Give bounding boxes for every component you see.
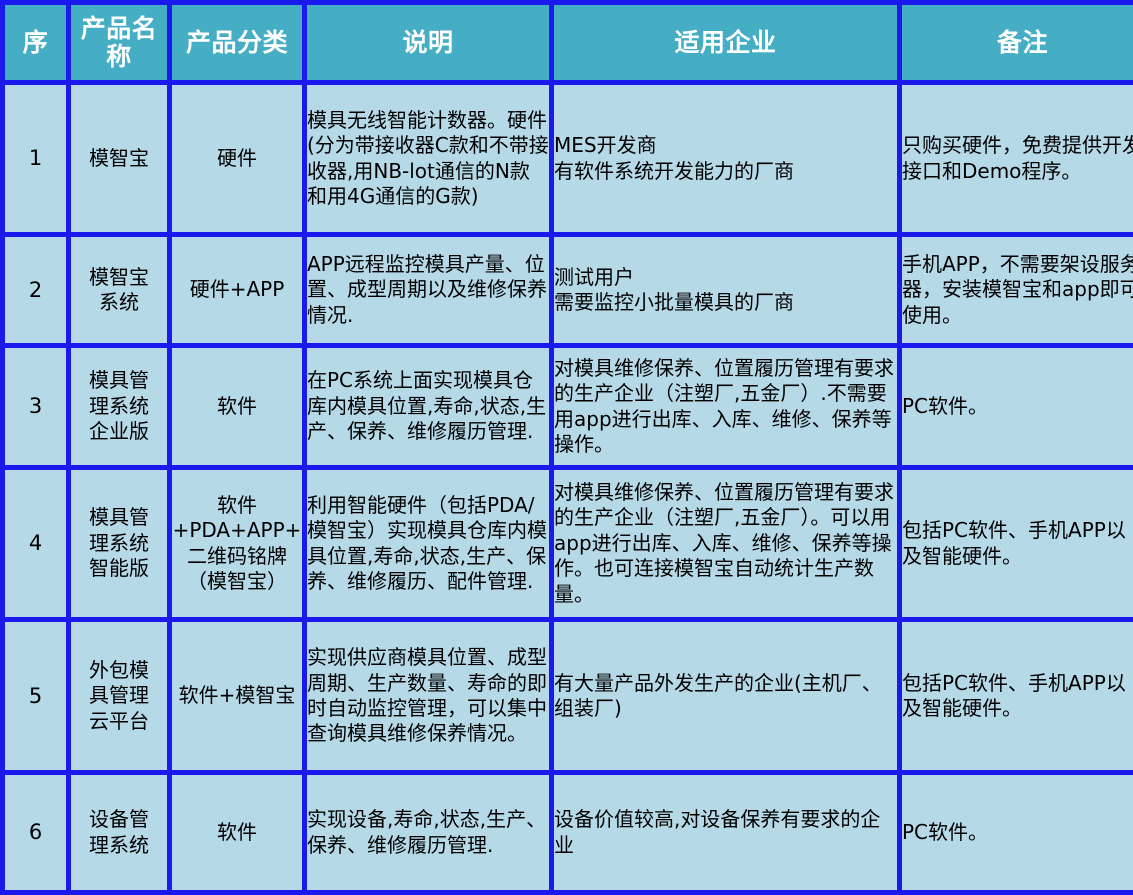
cell-target: 对模具维修保养、位置履历管理有要求的生产企业（注塑厂,五金厂）.不需要用app进… (554, 348, 897, 465)
cell-type: 硬件 (172, 85, 302, 232)
cell-type: 软件 (172, 775, 302, 890)
cell-target: 对模具维修保养、位置履历管理有要求的生产企业（注塑厂,五金厂）。可以用app进行… (554, 470, 897, 617)
cell-remark: 包括PC软件、手机APP以及智能硬件。 (902, 622, 1133, 770)
cell-remark: 手机APP，不需要架设服务器，安装模智宝和app即可使用。 (902, 237, 1133, 343)
cell-remark: 包括PC软件、手机APP以及智能硬件。 (902, 470, 1133, 617)
cell-name: 设备管 理系统 (71, 775, 167, 890)
cell-desc: APP远程监控模具产量、位置、成型周期以及维修保养情况. (307, 237, 549, 343)
cell-seq: 2 (5, 237, 66, 343)
column-header-type: 产品分类 (172, 5, 302, 80)
cell-name: 模具管 理系统 智能版 (71, 470, 167, 617)
cell-desc: 在PC系统上面实现模具仓库内模具位置,寿命,状态,生产、保养、维修履历管理. (307, 348, 549, 465)
product-comparison-table: 序 产品名 称 产品分类 说明 适用企业 备注 1 模智宝 硬件 模具无线智能计… (0, 0, 1133, 895)
table-row: 2 模智宝 系统 硬件+APP APP远程监控模具产量、位置、成型周期以及维修保… (5, 237, 1133, 343)
cell-target: 测试用户 需要监控小批量模具的厂商 (554, 237, 897, 343)
cell-name: 模智宝 系统 (71, 237, 167, 343)
table-header: 序 产品名 称 产品分类 说明 适用企业 备注 (5, 5, 1133, 80)
cell-desc: 实现设备,寿命,状态,生产、保养、维修履历管理. (307, 775, 549, 890)
cell-seq: 6 (5, 775, 66, 890)
cell-target: MES开发商 有软件系统开发能力的厂商 (554, 85, 897, 232)
table-row: 4 模具管 理系统 智能版 软件 +PDA+APP+ 二维码铭牌 （模智宝） 利… (5, 470, 1133, 617)
header-row: 序 产品名 称 产品分类 说明 适用企业 备注 (5, 5, 1133, 80)
cell-seq: 4 (5, 470, 66, 617)
column-header-desc: 说明 (307, 5, 549, 80)
cell-type: 软件 +PDA+APP+ 二维码铭牌 （模智宝） (172, 470, 302, 617)
cell-desc: 利用智能硬件（包括PDA/模智宝）实现模具仓库内模具位置,寿命,状态,生产、保养… (307, 470, 549, 617)
cell-target: 设备价值较高,对设备保养有要求的企业 (554, 775, 897, 890)
cell-seq: 3 (5, 348, 66, 465)
cell-remark: PC软件。 (902, 348, 1133, 465)
column-header-name: 产品名 称 (71, 5, 167, 80)
table-row: 3 模具管 理系统 企业版 软件 在PC系统上面实现模具仓库内模具位置,寿命,状… (5, 348, 1133, 465)
column-header-remark: 备注 (902, 5, 1133, 80)
table-row: 6 设备管 理系统 软件 实现设备,寿命,状态,生产、保养、维修履历管理. 设备… (5, 775, 1133, 890)
cell-seq: 1 (5, 85, 66, 232)
table-row: 5 外包模 具管理 云平台 软件+模智宝 实现供应商模具位置、成型周期、生产数量… (5, 622, 1133, 770)
cell-desc: 实现供应商模具位置、成型周期、生产数量、寿命的即时自动监控管理，可以集中查询模具… (307, 622, 549, 770)
product-table-container: 序 产品名 称 产品分类 说明 适用企业 备注 1 模智宝 硬件 模具无线智能计… (0, 0, 1133, 895)
cell-type: 软件 (172, 348, 302, 465)
cell-name: 模具管 理系统 企业版 (71, 348, 167, 465)
table-body: 1 模智宝 硬件 模具无线智能计数器。硬件(分为带接收器C款和不带接收器,用NB… (5, 85, 1133, 890)
cell-type: 硬件+APP (172, 237, 302, 343)
cell-desc: 模具无线智能计数器。硬件(分为带接收器C款和不带接收器,用NB-lot通信的N款… (307, 85, 549, 232)
cell-seq: 5 (5, 622, 66, 770)
cell-type: 软件+模智宝 (172, 622, 302, 770)
cell-remark: PC软件。 (902, 775, 1133, 890)
cell-remark: 只购买硬件，免费提供开发接口和Demo程序。 (902, 85, 1133, 232)
column-header-seq: 序 (5, 5, 66, 80)
table-row: 1 模智宝 硬件 模具无线智能计数器。硬件(分为带接收器C款和不带接收器,用NB… (5, 85, 1133, 232)
column-header-target: 适用企业 (554, 5, 897, 80)
cell-name: 外包模 具管理 云平台 (71, 622, 167, 770)
cell-target: 有大量产品外发生产的企业(主机厂、组装厂) (554, 622, 897, 770)
cell-name: 模智宝 (71, 85, 167, 232)
